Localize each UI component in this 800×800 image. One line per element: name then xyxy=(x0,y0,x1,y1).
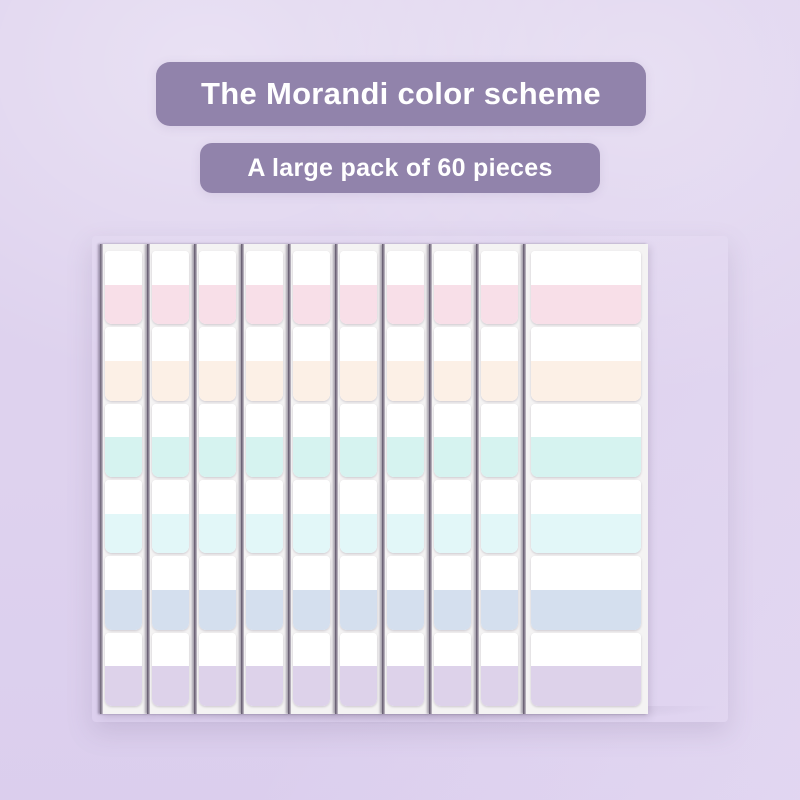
sticker-label xyxy=(481,327,518,400)
sticker-sheet-stack xyxy=(100,244,717,714)
sticker-write-area xyxy=(481,480,518,514)
sticker-label xyxy=(531,327,641,400)
sticker-color-band-powder-blue xyxy=(387,590,424,630)
sticker-label xyxy=(293,556,330,629)
sticker-write-area xyxy=(434,404,471,438)
sticker-color-band-mint-aqua xyxy=(531,437,641,477)
sticker-write-area xyxy=(293,404,330,438)
sticker-color-band-cream-peach xyxy=(152,361,189,401)
sticker-label xyxy=(387,404,424,477)
sticker-color-band-pale-aqua xyxy=(246,514,283,554)
product-image-canvas: The Morandi color scheme A large pack of… xyxy=(0,0,800,800)
sticker-label xyxy=(152,556,189,629)
sticker-write-area xyxy=(481,251,518,285)
sticker-label xyxy=(387,480,424,553)
sticker-color-band-mint-aqua xyxy=(387,437,424,477)
sticker-write-area xyxy=(152,404,189,438)
sticker-write-area xyxy=(152,327,189,361)
sticker-color-band-cream-peach xyxy=(293,361,330,401)
sticker-label xyxy=(387,556,424,629)
sticker-color-band-cream-peach xyxy=(387,361,424,401)
sticker-label xyxy=(246,251,283,324)
sticker-color-band-blush-pink xyxy=(387,285,424,325)
sticker-write-area xyxy=(387,404,424,438)
sticker-write-area xyxy=(152,480,189,514)
sticker-label xyxy=(246,556,283,629)
sticker-label xyxy=(531,480,641,553)
sticker-write-area xyxy=(293,633,330,667)
sticker-color-band-cream-peach xyxy=(246,361,283,401)
headline-subtitle-badge: A large pack of 60 pieces xyxy=(200,143,600,193)
sticker-label xyxy=(293,633,330,706)
sticker-color-band-pale-aqua xyxy=(434,514,471,554)
sticker-color-band-powder-blue xyxy=(199,590,236,630)
sticker-color-band-blush-pink xyxy=(199,285,236,325)
sticker-color-band-blush-pink xyxy=(434,285,471,325)
sticker-label xyxy=(434,556,471,629)
sticker-color-band-lilac-violet xyxy=(152,666,189,706)
sticker-write-area xyxy=(293,480,330,514)
sticker-label xyxy=(293,480,330,553)
sticker-write-area xyxy=(105,251,142,285)
sticker-strip xyxy=(429,244,476,714)
sticker-color-band-mint-aqua xyxy=(293,437,330,477)
sticker-strip xyxy=(100,244,147,714)
sticker-label xyxy=(105,404,142,477)
sticker-color-band-pale-aqua xyxy=(105,514,142,554)
sticker-color-band-blush-pink xyxy=(152,285,189,325)
sticker-color-band-mint-aqua xyxy=(340,437,377,477)
sticker-write-area xyxy=(387,480,424,514)
sticker-color-band-pale-aqua xyxy=(531,514,641,554)
sticker-label xyxy=(340,251,377,324)
sticker-label xyxy=(531,251,641,324)
sticker-label xyxy=(246,633,283,706)
sticker-label xyxy=(199,404,236,477)
sticker-write-area xyxy=(105,327,142,361)
sticker-strip xyxy=(476,244,523,714)
sticker-write-area xyxy=(246,556,283,590)
sticker-write-area xyxy=(199,251,236,285)
sticker-color-band-mint-aqua xyxy=(105,437,142,477)
sticker-label xyxy=(105,633,142,706)
sticker-write-area xyxy=(199,633,236,667)
headline-title-badge: The Morandi color scheme xyxy=(156,62,646,126)
sticker-write-area xyxy=(531,251,641,285)
sticker-label xyxy=(434,633,471,706)
sticker-color-band-pale-aqua xyxy=(340,514,377,554)
sticker-write-area xyxy=(293,327,330,361)
sticker-label xyxy=(199,327,236,400)
sticker-label xyxy=(246,327,283,400)
sticker-strip xyxy=(335,244,382,714)
sticker-color-band-cream-peach xyxy=(434,361,471,401)
sticker-write-area xyxy=(105,404,142,438)
sticker-write-area xyxy=(387,327,424,361)
sticker-color-band-powder-blue xyxy=(531,590,641,630)
sticker-color-band-cream-peach xyxy=(481,361,518,401)
sticker-write-area xyxy=(152,251,189,285)
sticker-write-area xyxy=(340,251,377,285)
sticker-write-area xyxy=(340,327,377,361)
sticker-label xyxy=(434,404,471,477)
sticker-write-area xyxy=(152,633,189,667)
page-title: The Morandi color scheme xyxy=(201,76,601,112)
sticker-label xyxy=(199,480,236,553)
sticker-strip xyxy=(382,244,429,714)
sticker-color-band-lilac-violet xyxy=(340,666,377,706)
sticker-label xyxy=(387,251,424,324)
sticker-color-band-pale-aqua xyxy=(293,514,330,554)
sticker-label xyxy=(387,633,424,706)
sticker-color-band-powder-blue xyxy=(481,590,518,630)
sticker-label xyxy=(340,633,377,706)
sticker-color-band-mint-aqua xyxy=(152,437,189,477)
sticker-write-area xyxy=(481,327,518,361)
sticker-color-band-lilac-violet xyxy=(481,666,518,706)
sticker-color-band-lilac-violet xyxy=(387,666,424,706)
sticker-label xyxy=(531,633,641,706)
sticker-write-area xyxy=(434,633,471,667)
sticker-color-band-cream-peach xyxy=(531,361,641,401)
sticker-label xyxy=(152,251,189,324)
sticker-write-area xyxy=(246,480,283,514)
sticker-label xyxy=(481,404,518,477)
sticker-write-area xyxy=(199,327,236,361)
sticker-write-area xyxy=(387,556,424,590)
sticker-label xyxy=(246,404,283,477)
sticker-write-area xyxy=(481,404,518,438)
sticker-label xyxy=(152,404,189,477)
sticker-color-band-mint-aqua xyxy=(246,437,283,477)
sticker-label xyxy=(481,633,518,706)
sticker-label xyxy=(199,251,236,324)
sticker-color-band-lilac-violet xyxy=(293,666,330,706)
sticker-color-band-mint-aqua xyxy=(434,437,471,477)
sticker-color-band-lilac-violet xyxy=(105,666,142,706)
sticker-color-band-powder-blue xyxy=(152,590,189,630)
sticker-color-band-lilac-violet xyxy=(531,666,641,706)
sticker-write-area xyxy=(293,251,330,285)
sticker-write-area xyxy=(531,327,641,361)
sticker-label xyxy=(481,251,518,324)
sticker-label xyxy=(246,480,283,553)
sticker-write-area xyxy=(531,404,641,438)
sticker-write-area xyxy=(340,480,377,514)
sticker-strip xyxy=(523,244,648,714)
sticker-label xyxy=(105,556,142,629)
sticker-write-area xyxy=(246,327,283,361)
sticker-label xyxy=(340,404,377,477)
sticker-label xyxy=(434,327,471,400)
sticker-strip xyxy=(241,244,288,714)
sticker-color-band-blush-pink xyxy=(105,285,142,325)
sticker-color-band-pale-aqua xyxy=(152,514,189,554)
sticker-strip xyxy=(147,244,194,714)
sticker-write-area xyxy=(340,404,377,438)
sticker-strip xyxy=(288,244,335,714)
sticker-label xyxy=(105,327,142,400)
sticker-color-band-cream-peach xyxy=(199,361,236,401)
sticker-color-band-pale-aqua xyxy=(387,514,424,554)
sticker-color-band-pale-aqua xyxy=(481,514,518,554)
sticker-label xyxy=(199,633,236,706)
sticker-write-area xyxy=(246,404,283,438)
sticker-color-band-mint-aqua xyxy=(199,437,236,477)
sticker-write-area xyxy=(152,556,189,590)
sticker-write-area xyxy=(434,480,471,514)
sticker-write-area xyxy=(199,556,236,590)
sticker-write-area xyxy=(105,480,142,514)
sticker-color-band-lilac-violet xyxy=(246,666,283,706)
sticker-label xyxy=(105,251,142,324)
sticker-write-area xyxy=(434,556,471,590)
sticker-label xyxy=(293,251,330,324)
sticker-label xyxy=(434,251,471,324)
sticker-write-area xyxy=(387,251,424,285)
sticker-color-band-blush-pink xyxy=(340,285,377,325)
sticker-label xyxy=(340,556,377,629)
sticker-write-area xyxy=(387,633,424,667)
sticker-color-band-blush-pink xyxy=(531,285,641,325)
sticker-color-band-powder-blue xyxy=(434,590,471,630)
sticker-color-band-powder-blue xyxy=(246,590,283,630)
sticker-label xyxy=(340,480,377,553)
sticker-color-band-cream-peach xyxy=(105,361,142,401)
sticker-write-area xyxy=(246,633,283,667)
sticker-write-area xyxy=(105,633,142,667)
sticker-label xyxy=(199,556,236,629)
sticker-color-band-lilac-violet xyxy=(199,666,236,706)
sticker-label xyxy=(387,327,424,400)
sticker-write-area xyxy=(531,633,641,667)
sticker-color-band-blush-pink xyxy=(481,285,518,325)
sticker-color-band-blush-pink xyxy=(293,285,330,325)
sticker-color-band-powder-blue xyxy=(340,590,377,630)
sticker-label xyxy=(531,556,641,629)
sticker-label xyxy=(105,480,142,553)
sticker-label xyxy=(481,480,518,553)
sticker-color-band-lilac-violet xyxy=(434,666,471,706)
sticker-label xyxy=(152,633,189,706)
sticker-color-band-pale-aqua xyxy=(199,514,236,554)
sticker-label xyxy=(434,480,471,553)
sticker-write-area xyxy=(434,251,471,285)
sticker-label xyxy=(152,327,189,400)
sticker-label xyxy=(531,404,641,477)
sticker-write-area xyxy=(481,556,518,590)
sticker-write-area xyxy=(293,556,330,590)
sticker-label xyxy=(481,556,518,629)
sticker-color-band-cream-peach xyxy=(340,361,377,401)
sticker-write-area xyxy=(531,556,641,590)
sticker-write-area xyxy=(199,404,236,438)
sticker-color-band-powder-blue xyxy=(105,590,142,630)
sticker-write-area xyxy=(434,327,471,361)
sticker-label xyxy=(293,327,330,400)
sticker-write-area xyxy=(340,556,377,590)
sticker-color-band-powder-blue xyxy=(293,590,330,630)
sticker-color-band-mint-aqua xyxy=(481,437,518,477)
sticker-write-area xyxy=(199,480,236,514)
sticker-strip xyxy=(194,244,241,714)
sticker-color-band-blush-pink xyxy=(246,285,283,325)
sticker-label xyxy=(293,404,330,477)
page-subtitle: A large pack of 60 pieces xyxy=(247,154,552,183)
sticker-write-area xyxy=(105,556,142,590)
sticker-write-area xyxy=(340,633,377,667)
sticker-write-area xyxy=(481,633,518,667)
sticker-write-area xyxy=(531,480,641,514)
sticker-label xyxy=(152,480,189,553)
sticker-write-area xyxy=(246,251,283,285)
sticker-label xyxy=(340,327,377,400)
